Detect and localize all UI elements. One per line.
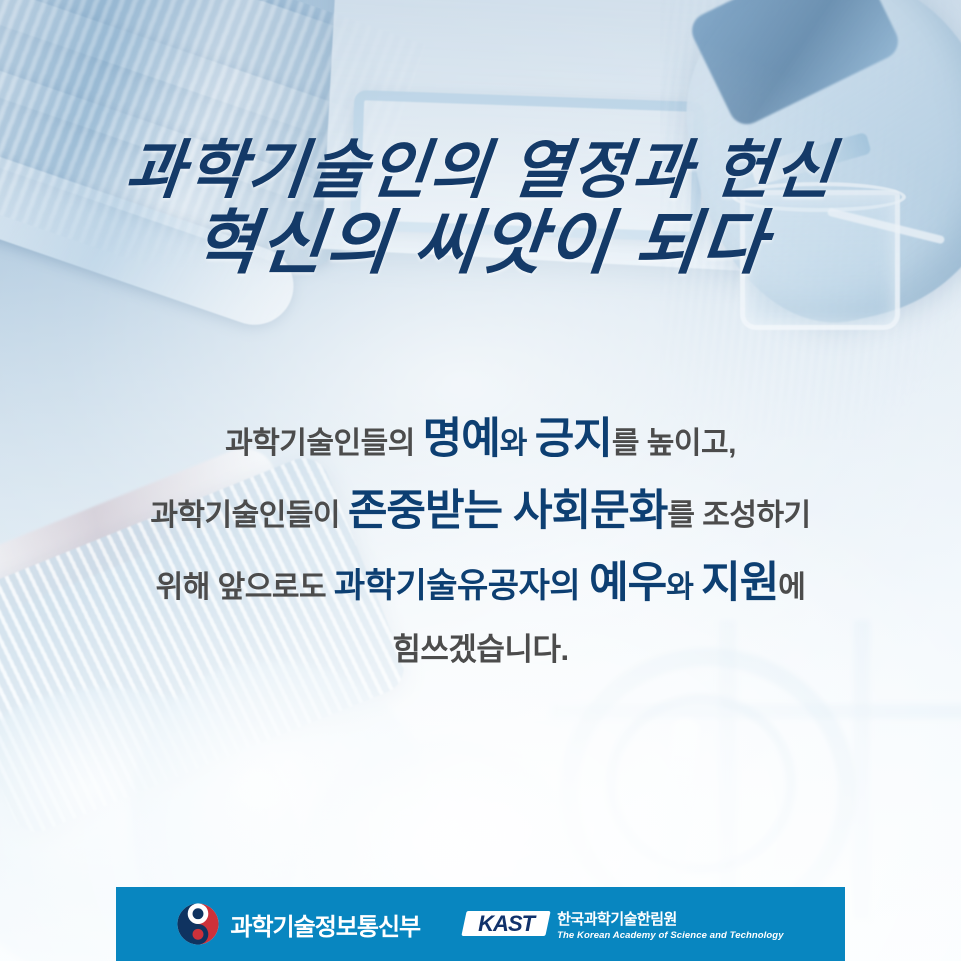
kast-text-block: 한국과학기술한림원 The Korean Academy of Science … [557,908,783,941]
poster-card: 과학기술인의 열정과 헌신 혁신의 씨앗이 되다 과학기술인들의 명예와 긍지를… [0,0,961,961]
headline-calligraphy: 과학기술인의 열정과 헌신 혁신의 씨앗이 되다 [0,138,961,278]
body-paragraph: 과학기술인들의 명예와 긍지를 높이고, 과학기술인들이 존중받는 사회문화를 … [50,418,911,694]
kast-english-name: The Korean Academy of Science and Techno… [557,930,783,941]
kast-wordmark: KAST [464,909,548,938]
body-line-1: 과학기술인들의 명예와 긍지를 높이고, [50,418,911,461]
body-line-3: 위해 앞으로도 과학기술유공자의 예우와 지원에 [50,562,911,605]
headline-line-1: 과학기술인의 열정과 헌신 [0,138,961,202]
body-line3-emphasis-jiwon: 지원 [701,559,778,607]
ministry-logo-lockup: 과학기술정보통신부 [177,903,420,945]
kast-logo-lockup: KAST 한국과학기술한림원 The Korean Academy of Sci… [464,908,783,941]
body-line1-seg5: 를 높이고, [612,427,736,460]
body-line1-seg3: 와 [500,427,535,460]
body-line1-seg1: 과학기술인들의 [225,427,423,460]
headline-line-2: 혁신의 씨앗이 되다 [0,208,961,278]
body-line1-emphasis-geungji: 긍지 [535,415,612,463]
body-line3-seg4: 와 [666,571,701,604]
body-line2-seg3: 를 조성하기 [667,499,810,532]
body-line3-seg6: 에 [778,571,805,604]
taeguk-icon [177,903,219,945]
body-line-2: 과학기술인들이 존중받는 사회문화를 조성하기 [50,490,911,533]
body-line3-seg1: 위해 앞으로도 [156,571,334,604]
ministry-name-label: 과학기술정보통신부 [230,907,420,942]
body-line2-emphasis-sahoemunhwa: 존중받는 사회문화 [348,487,667,535]
body-line-4: 힘쓰겠습니다. [50,634,911,665]
body-line2-seg1: 과학기술인들이 [150,499,348,532]
poster-content: 과학기술인의 열정과 헌신 혁신의 씨앗이 되다 과학기술인들의 명예와 긍지를… [0,0,961,961]
body-line1-emphasis-myeongye: 명예 [423,415,500,463]
body-line3-seg2-yugongja: 과학기술유공자의 [334,567,589,605]
kast-mark-icon: KAST [464,909,548,939]
kast-korean-name: 한국과학기술한림원 [557,908,783,929]
body-line3-emphasis-yeu: 예우 [589,559,666,607]
footer-logo-bar: 과학기술정보통신부 KAST 한국과학기술한림원 The Korean Acad… [116,887,845,961]
body-line4-seg1: 힘쓰겠습니다. [392,632,568,667]
